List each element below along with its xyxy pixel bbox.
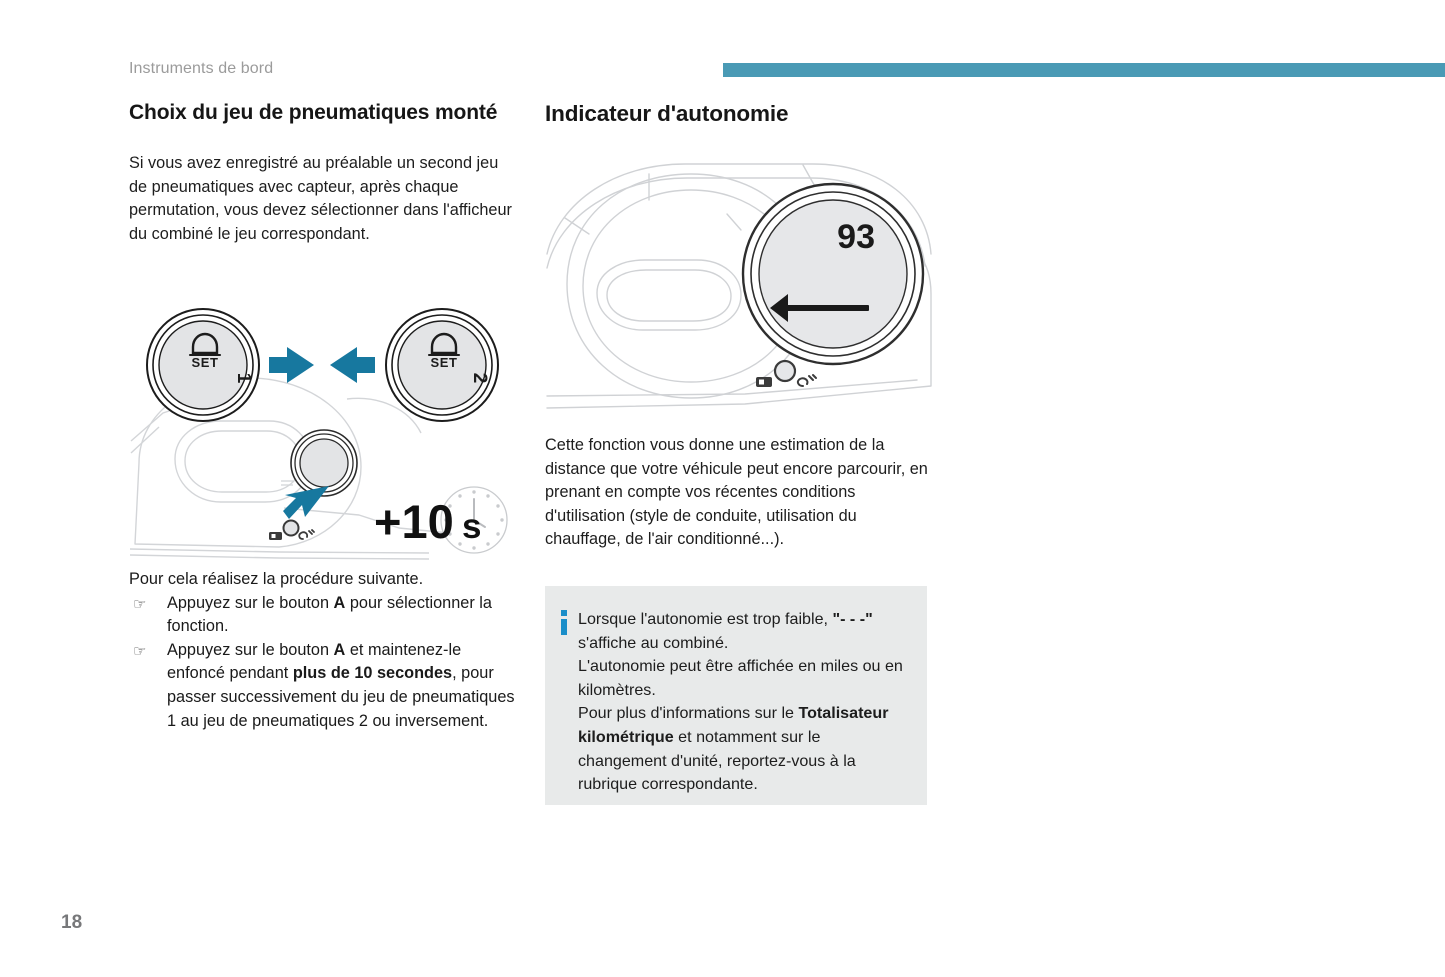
arrow-pointer-icon bbox=[283, 486, 329, 519]
right-body-block: Cette fonction vous donne une estimation… bbox=[545, 434, 931, 552]
svg-text:+10: +10 bbox=[374, 495, 454, 548]
svg-text:s: s bbox=[462, 507, 481, 546]
running-head: Instruments de bord bbox=[129, 60, 273, 78]
right-body-paragraph: Cette fonction vous donne une estimation… bbox=[545, 434, 931, 552]
trip-reset-button-icon bbox=[756, 361, 816, 387]
hand-pointer-icon: ☞ bbox=[133, 593, 146, 617]
svg-text:SET: SET bbox=[191, 355, 218, 370]
range-display-value: 93 bbox=[837, 218, 875, 256]
tyre-set-selection-illustration: SET 1 SET 2 bbox=[129, 303, 519, 561]
svg-text:1: 1 bbox=[233, 373, 254, 384]
left-intro-paragraph: Si vous avez enregistré au préalable un … bbox=[129, 152, 519, 246]
page-number: 18 bbox=[61, 912, 82, 934]
dial-tyre-set-2: SET 2 bbox=[386, 309, 498, 421]
info-note-box: Lorsque l'autonomie est trop faible, "- … bbox=[545, 586, 927, 805]
manual-page: Instruments de bord Choix du jeu de pneu… bbox=[0, 0, 1445, 977]
svg-text:SET: SET bbox=[430, 355, 457, 370]
list-item: ☞ Appuyez sur le bouton A pour sélection… bbox=[129, 592, 521, 639]
page-title-right: Indicateur d'autonomie bbox=[545, 100, 930, 128]
step-text: Appuyez sur le bouton A pour sélectionne… bbox=[167, 594, 492, 636]
list-item: ☞ Appuyez sur le bouton A et maintenez-l… bbox=[129, 639, 521, 733]
procedure-steps: ☞ Appuyez sur le bouton A pour sélection… bbox=[129, 592, 521, 734]
step-text: Appuyez sur le bouton A et maintenez-le … bbox=[167, 641, 515, 730]
svg-text:2: 2 bbox=[469, 373, 490, 384]
dial-tyre-set-1: SET 1 bbox=[147, 309, 259, 421]
page-title-left: Choix du jeu de pneumatiques monté bbox=[129, 100, 519, 126]
timer-10s-badge: +10 s bbox=[374, 487, 507, 553]
range-display: 93 bbox=[743, 184, 923, 364]
right-column: Indicateur d'autonomie bbox=[545, 100, 930, 128]
procedure-intro: Pour cela réalisez la procédure suivante… bbox=[129, 568, 521, 592]
hand-pointer-icon: ☞ bbox=[133, 640, 146, 664]
double-arrow-icon bbox=[269, 347, 375, 383]
header-rule bbox=[723, 63, 1445, 77]
procedure-block: Pour cela réalisez la procédure suivante… bbox=[129, 568, 521, 733]
info-note-text: Lorsque l'autonomie est trop faible, "- … bbox=[578, 608, 913, 797]
left-column: Choix du jeu de pneumatiques monté Si vo… bbox=[129, 100, 519, 247]
range-indicator-illustration: 93 bbox=[545, 158, 933, 413]
info-icon bbox=[561, 610, 567, 635]
